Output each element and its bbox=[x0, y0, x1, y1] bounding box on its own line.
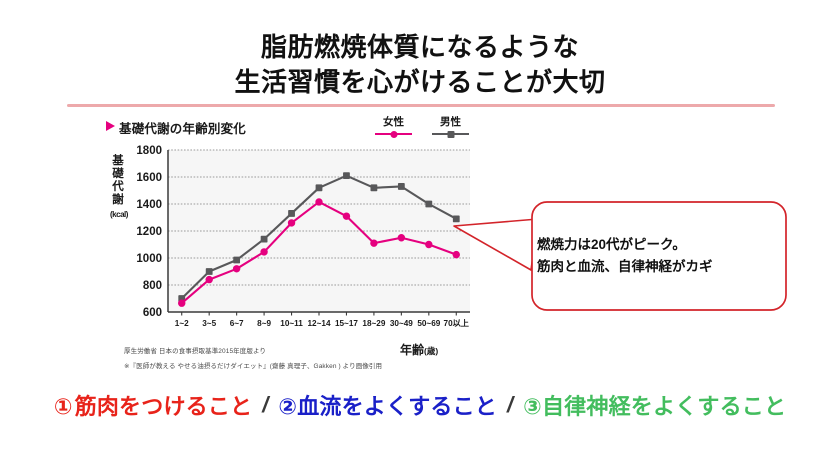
key-point-3-number: ③ bbox=[523, 394, 542, 419]
point-男性-6 bbox=[343, 172, 350, 179]
y-axis-title-text: 基礎代謝 bbox=[112, 155, 124, 206]
page-title: 脂肪燃焼体質になるような 生活習慣を心がけることが大切 bbox=[0, 30, 840, 100]
point-女性-9 bbox=[425, 241, 432, 248]
point-男性-2 bbox=[233, 257, 240, 264]
x-axis-tick-1: 3~5 bbox=[202, 319, 216, 328]
y-axis-tick-600: 600 bbox=[143, 307, 162, 319]
key-point-2-label: 血流をよくすること bbox=[297, 394, 497, 419]
chart-panel: 基礎代謝の年齢別変化 女性 男性 基礎代謝 (kcal) bbox=[104, 118, 472, 373]
key-point-1-number: ① bbox=[54, 394, 73, 419]
key-point-2: ②血流をよくすること bbox=[278, 389, 497, 421]
source-note-book: ※『医師が教える やせる油摂るだけダイエット』(齋藤 真理子、Gakken ) … bbox=[124, 360, 382, 370]
callout-text-line-2: 筋肉と血流、自律神経がカギ bbox=[537, 256, 713, 278]
x-axis-tick-9: 50~69 bbox=[417, 319, 440, 328]
y-axis-tick-1600: 1600 bbox=[136, 172, 162, 184]
chart-title: 基礎代謝の年齢別変化 bbox=[119, 118, 246, 137]
point-女性-7 bbox=[370, 239, 377, 246]
y-axis-tick-1800: 1800 bbox=[136, 145, 162, 157]
y-axis-tick-800: 800 bbox=[143, 280, 162, 292]
y-axis-unit: (kcal) bbox=[110, 208, 126, 221]
y-axis-tick-1400: 1400 bbox=[136, 199, 162, 211]
point-男性-9 bbox=[425, 201, 432, 208]
key-point-1-label: 筋肉をつけること bbox=[75, 394, 253, 419]
y-axis-tick-1200: 1200 bbox=[136, 226, 162, 238]
x-axis-title-text: 年齢 bbox=[400, 343, 424, 357]
legend-item-male: 男性 bbox=[429, 116, 472, 139]
key-point-3: ③自律神経をよくすること bbox=[523, 389, 786, 421]
point-女性-1 bbox=[205, 276, 212, 283]
point-男性-7 bbox=[371, 184, 378, 191]
chart-plot-area: 60080010001200140016001800 1~23~56~78~91… bbox=[128, 144, 472, 334]
callout-text-line-1: 燃焼力は20代がピーク。 bbox=[537, 234, 713, 256]
chart-header: 基礎代謝の年齢別変化 女性 男性 bbox=[104, 118, 472, 140]
x-axis-tick-2: 6~7 bbox=[230, 319, 244, 328]
point-男性-8 bbox=[398, 183, 405, 190]
point-女性-6 bbox=[343, 212, 350, 219]
point-男性-1 bbox=[206, 268, 213, 275]
page-title-line-1: 脂肪燃焼体質になるような bbox=[0, 30, 840, 65]
point-女性-2 bbox=[233, 265, 240, 272]
legend-marker-circle-icon bbox=[390, 131, 397, 138]
x-axis-tick-8: 30~49 bbox=[390, 319, 413, 328]
x-axis-tick-5: 12~14 bbox=[308, 319, 331, 328]
x-axis-tick-0: 1~2 bbox=[175, 319, 189, 328]
x-axis-unit: (歳) bbox=[424, 346, 438, 356]
chart-legend: 女性 男性 bbox=[372, 116, 472, 139]
point-男性-5 bbox=[316, 184, 323, 191]
legend-label-female: 女性 bbox=[372, 116, 415, 128]
key-point-separator-1: / bbox=[252, 392, 278, 418]
legend-swatch-male bbox=[429, 129, 472, 139]
callout-bubble: 燃焼力は20代がピーク。 筋肉と血流、自律神経がカギ bbox=[452, 200, 788, 312]
legend-swatch-female bbox=[372, 129, 415, 139]
key-point-3-label: 自律神経をよくすること bbox=[542, 394, 786, 419]
point-男性-4 bbox=[288, 210, 295, 217]
point-女性-0 bbox=[178, 300, 185, 307]
basal-metabolism-line-chart: 60080010001200140016001800 1~23~56~78~91… bbox=[128, 144, 472, 334]
callout-tail-arrow bbox=[454, 219, 538, 270]
source-note-ministry: 厚生労働省 日本の食事摂取基準2015年度版より bbox=[124, 345, 266, 355]
point-女性-3 bbox=[260, 248, 267, 255]
key-point-1: ①筋肉をつけること bbox=[54, 389, 252, 421]
point-女性-4 bbox=[288, 219, 295, 226]
x-axis-tick-10: 70以上 bbox=[444, 318, 469, 328]
x-axis-tick-6: 15~17 bbox=[335, 319, 358, 328]
key-point-separator-2: / bbox=[497, 392, 523, 418]
x-axis-title: 年齢(歳) bbox=[400, 341, 438, 358]
key-point-2-number: ② bbox=[278, 394, 297, 419]
y-axis-title: 基礎代謝 (kcal) bbox=[110, 155, 126, 221]
callout-text: 燃焼力は20代がピーク。 筋肉と血流、自律神経がカギ bbox=[537, 234, 713, 278]
x-axis-tick-4: 10~11 bbox=[280, 319, 303, 328]
y-axis-tick-1000: 1000 bbox=[136, 253, 162, 265]
x-axis-tick-3: 8~9 bbox=[257, 319, 271, 328]
point-女性-5 bbox=[315, 198, 322, 205]
key-points-row: ①筋肉をつけること / ②血流をよくすること / ③自律神経をよくすること bbox=[0, 389, 840, 421]
x-axis-tick-7: 18~29 bbox=[362, 319, 385, 328]
point-男性-3 bbox=[261, 236, 268, 243]
legend-label-male: 男性 bbox=[429, 116, 472, 128]
point-女性-8 bbox=[398, 234, 405, 241]
legend-marker-square-icon bbox=[447, 131, 454, 138]
title-divider bbox=[67, 104, 775, 107]
triangle-right-icon bbox=[106, 121, 115, 131]
page-title-line-2: 生活習慣を心がけることが大切 bbox=[0, 65, 840, 100]
legend-item-female: 女性 bbox=[372, 116, 415, 139]
